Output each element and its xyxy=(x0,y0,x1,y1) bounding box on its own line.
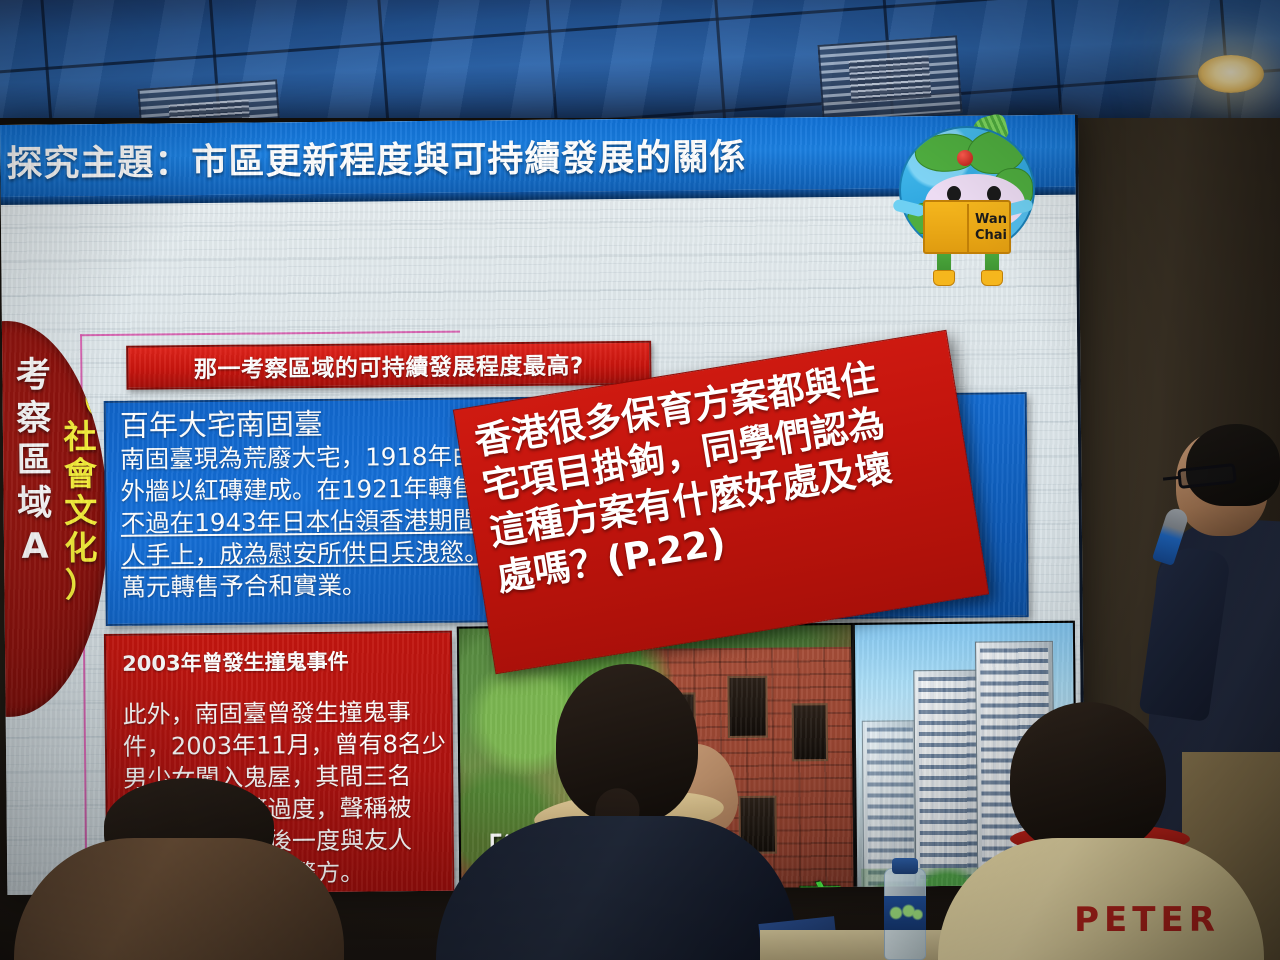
oval-char: 文 xyxy=(58,493,104,530)
mascot-shoe xyxy=(933,270,955,286)
red-box-line: 件，2003年11月，曾有8名少 xyxy=(123,729,437,764)
red-box-line: 此外，南固臺曾發生撞鬼事 xyxy=(123,697,437,732)
mascot-red-dot xyxy=(957,150,973,166)
oval-char: ） xyxy=(58,567,104,604)
book-line-2: Chai xyxy=(975,228,1007,243)
water-bottle-cap xyxy=(892,858,918,874)
audience-right-head xyxy=(1010,702,1166,854)
oval-yellow-text: （ 社 會 文 化 ） xyxy=(56,382,104,604)
mascot-book-text: Wan Chai xyxy=(971,212,1011,245)
water-bottle-label xyxy=(884,896,926,930)
book-line-1: Wan xyxy=(975,212,1007,227)
ceiling xyxy=(0,0,1280,128)
red-box-heading: 2003年曾發生撞鬼事件 xyxy=(122,645,436,678)
wan-chai-globe-mascot: Wan Chai xyxy=(893,118,1041,286)
oval-char: 社 xyxy=(57,419,103,456)
oval-char: （ xyxy=(56,382,102,419)
slide-title: 探究主題：市區更新程度與可持續發展的關係 xyxy=(6,128,746,187)
air-vent-icon xyxy=(817,35,962,123)
ceiling-downlight xyxy=(1198,55,1264,93)
oval-char: A xyxy=(12,525,58,568)
oval-char: 域 xyxy=(11,483,57,526)
jersey-name-text: PETER xyxy=(1042,900,1252,940)
oval-char: 考 xyxy=(10,354,56,397)
photo-scene: 探究主題：市區更新程度與可持續發展的關係 考 察 區 域 A （ 社 會 文 化… xyxy=(0,0,1280,960)
mascot-shoe xyxy=(981,270,1003,286)
oval-white-text: 考 察 區 域 A xyxy=(10,354,58,568)
oval-char: 會 xyxy=(57,456,103,493)
window xyxy=(727,676,768,738)
question-banner-text: 那一考察區域的可持續發展程度最高? xyxy=(194,346,584,384)
oval-char: 區 xyxy=(11,440,57,483)
oval-char: 化 xyxy=(58,530,104,567)
question-banner: 那一考察區域的可持續發展程度最高? xyxy=(126,341,651,390)
mascot-book: Wan Chai xyxy=(923,200,1011,254)
oval-char: 察 xyxy=(11,397,57,440)
window xyxy=(792,703,829,761)
